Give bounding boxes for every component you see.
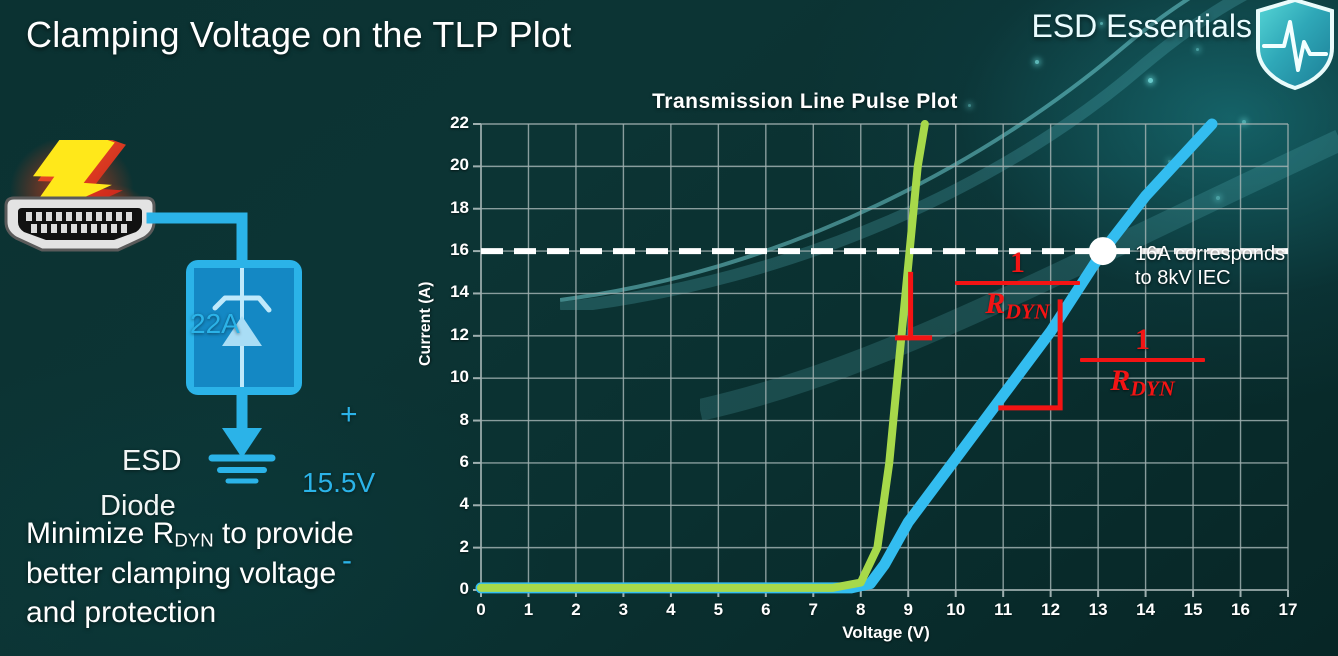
fraction-denominator-sub: DYN [1130, 376, 1174, 400]
y-axis-tick: 14 [429, 282, 469, 302]
fraction-denominator: RDYN [955, 285, 1080, 324]
slope-annotation-blue: 1 RDYN [1080, 325, 1205, 401]
summary-caption: Minimize RDYN to provide better clamping… [26, 514, 436, 633]
fraction-denominator-main: R [985, 287, 1005, 320]
background-particle [1035, 60, 1039, 64]
tlp-chart: Transmission Line Pulse Plot Current (A)… [425, 90, 1338, 656]
y-axis-tick: 0 [429, 579, 469, 599]
fraction-numerator: 1 [1080, 325, 1205, 358]
page-title: Clamping Voltage on the TLP Plot [26, 14, 571, 56]
annotation-16a-line1: 16A corresponds [1135, 243, 1285, 265]
y-axis-tick: 12 [429, 325, 469, 345]
circuit-diagram: 22A 15.5V + - ESD Diode [0, 140, 430, 510]
hdmi-connector-icon [6, 198, 154, 250]
caption-line1-b: to provide [214, 517, 354, 550]
background-particle [1148, 78, 1153, 83]
y-axis-tick: 22 [429, 113, 469, 133]
fraction-denominator-main: R [1110, 364, 1130, 397]
shield-pulse-icon [1252, 0, 1338, 92]
device-label-line1: ESD [122, 445, 182, 478]
caption-line3: and protection [26, 596, 216, 629]
x-axis-tick: 13 [1078, 600, 1118, 620]
annotation-16a-line2: to 8kV IEC [1135, 267, 1231, 289]
x-axis-tick: 10 [936, 600, 976, 620]
annotation-16a: 16A corresponds to 8kV IEC [1135, 242, 1285, 290]
x-axis-tick: 2 [556, 600, 596, 620]
ground-symbol-icon [212, 458, 272, 481]
x-axis-tick: 1 [508, 600, 548, 620]
y-axis-tick: 6 [429, 452, 469, 472]
x-axis-tick: 16 [1221, 600, 1261, 620]
y-axis-tick: 10 [429, 367, 469, 387]
x-axis-tick: 11 [983, 600, 1023, 620]
slide-canvas: Clamping Voltage on the TLP Plot ESD Ess… [0, 0, 1338, 656]
y-axis-tick: 18 [429, 198, 469, 218]
y-axis-tick: 8 [429, 410, 469, 430]
slope-annotation-green: 1 RDYN [955, 248, 1080, 324]
x-axis-tick: 12 [1031, 600, 1071, 620]
caption-line2: better clamping voltage [26, 557, 336, 590]
x-axis-tick: 3 [603, 600, 643, 620]
x-axis-tick: 7 [793, 600, 833, 620]
x-axis-tick: 5 [698, 600, 738, 620]
background-particle [1196, 48, 1199, 51]
y-axis-tick: 2 [429, 537, 469, 557]
fraction-numerator: 1 [955, 248, 1080, 281]
fraction-denominator: RDYN [1080, 362, 1205, 401]
brand-name: ESD Essentials [1031, 8, 1252, 45]
x-axis-tick: 17 [1268, 600, 1308, 620]
x-axis-tick: 6 [746, 600, 786, 620]
x-axis-tick: 14 [1126, 600, 1166, 620]
caption-line1-sub: DYN [174, 529, 213, 550]
x-axis-tick: 0 [461, 600, 501, 620]
x-axis-tick: 9 [888, 600, 928, 620]
polarity-plus: + [340, 398, 358, 432]
caption-line1-a: Minimize R [26, 517, 174, 550]
x-axis-tick: 15 [1173, 600, 1213, 620]
fraction-denominator-sub: DYN [1005, 299, 1049, 323]
y-axis-tick: 16 [429, 240, 469, 260]
x-axis-tick: 4 [651, 600, 691, 620]
x-axis-tick: 8 [841, 600, 881, 620]
y-axis-tick: 4 [429, 494, 469, 514]
current-label: 22A [190, 308, 240, 340]
voltage-label: 15.5V [302, 467, 375, 499]
y-axis-tick: 20 [429, 155, 469, 175]
